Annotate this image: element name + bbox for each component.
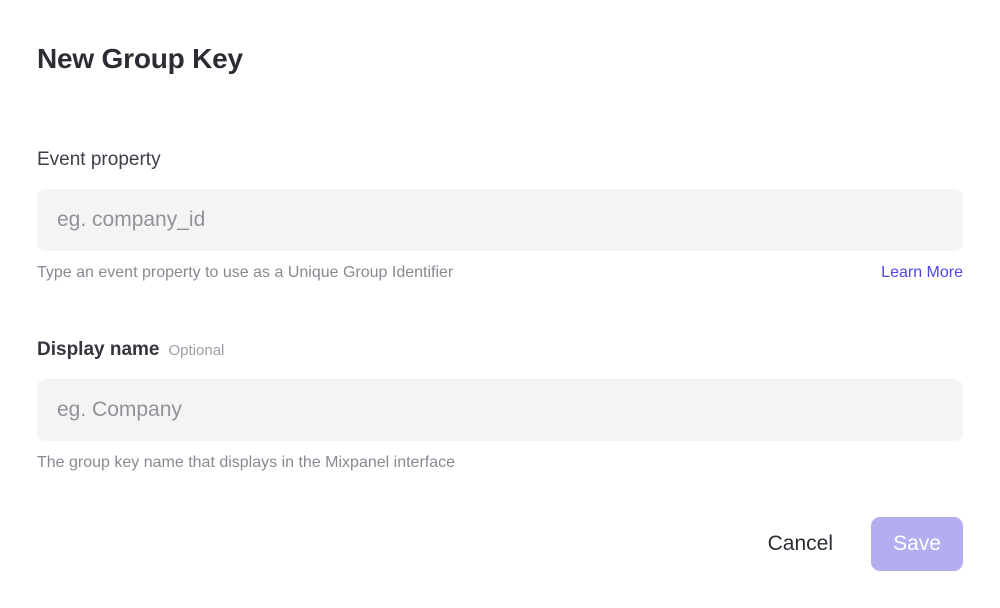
- event-property-label: Event property: [37, 147, 161, 173]
- display-name-label-row: Display name Optional: [37, 337, 963, 363]
- event-property-label-row: Event property: [37, 147, 963, 173]
- event-property-input[interactable]: [37, 189, 963, 251]
- field-group-display-name: Display name Optional The group key name…: [37, 337, 963, 474]
- modal-footer: Cancel Save: [37, 517, 963, 571]
- field-group-event-property: Event property Type an event property to…: [37, 147, 963, 284]
- new-group-key-modal: New Group Key Event property Type an eve…: [0, 0, 1000, 608]
- save-button[interactable]: Save: [871, 517, 963, 571]
- modal-title: New Group Key: [37, 41, 243, 77]
- cancel-button[interactable]: Cancel: [768, 530, 833, 558]
- display-name-label: Display name: [37, 337, 160, 363]
- display-name-input[interactable]: [37, 379, 963, 441]
- event-property-helper-text: Type an event property to use as a Uniqu…: [37, 262, 453, 284]
- event-property-helper-row: Type an event property to use as a Uniqu…: [37, 262, 963, 284]
- display-name-helper-text: The group key name that displays in the …: [37, 452, 455, 474]
- learn-more-link[interactable]: Learn More: [881, 262, 963, 284]
- display-name-helper-row: The group key name that displays in the …: [37, 452, 963, 474]
- display-name-optional-tag: Optional: [169, 341, 225, 361]
